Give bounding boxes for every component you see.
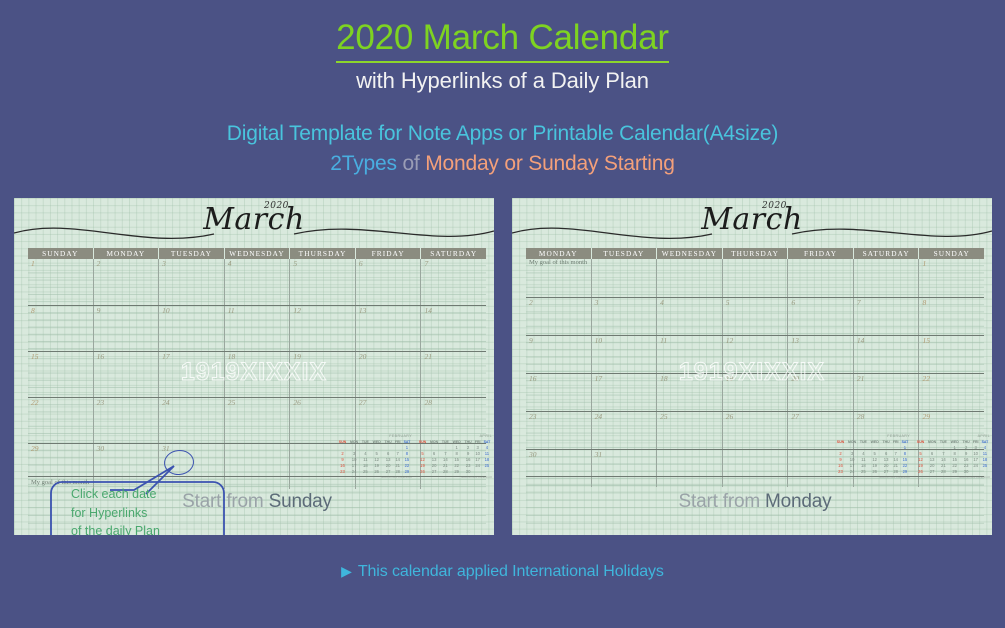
cell-rule-lines — [788, 298, 853, 335]
start-from-day: Sunday — [269, 491, 332, 512]
day-cell-6[interactable]: 6 — [788, 298, 854, 335]
day-cell-1[interactable]: 1 — [28, 259, 94, 305]
day-number: 6 — [359, 260, 363, 268]
triangle-bullet-icon: ▶ — [341, 563, 352, 580]
month-year-label: 2020 — [264, 201, 289, 211]
cell-rule-lines — [657, 259, 722, 297]
day-cell-10[interactable]: 10 — [159, 306, 225, 351]
day-cell-10[interactable]: 10 — [592, 336, 658, 373]
day-number: 25 — [228, 399, 236, 407]
day-number: 8 — [922, 299, 926, 307]
mini-day-24: 24 — [846, 469, 858, 475]
day-number: 26 — [293, 399, 301, 407]
day-cell-23[interactable]: 23 — [526, 412, 592, 449]
mini-day-29: 29 — [451, 469, 463, 475]
day-number: 1 — [31, 260, 35, 268]
day-cell-empty — [854, 259, 920, 297]
mini-day-25: 25 — [360, 469, 370, 475]
cell-rule-lines — [854, 298, 919, 335]
day-number: 29 — [922, 413, 930, 421]
day-number: 24 — [162, 399, 170, 407]
mini-day-29: 29 — [402, 469, 412, 475]
day-number: 20 — [359, 353, 367, 361]
day-number: 15 — [31, 353, 39, 361]
dow-header-sunday: SUNDAY — [28, 248, 94, 259]
day-number: 15 — [922, 337, 930, 345]
calendar-cards: March 2020 SUNDAYMONDAYTUESDAYWEDNESDAYT… — [0, 198, 1005, 535]
calendar-header-monday: March 2020 — [512, 198, 992, 248]
dow-header-thursday: THURSDAY — [290, 248, 356, 259]
day-number: 2 — [97, 260, 101, 268]
week-row: 891011121314 — [28, 305, 486, 351]
day-number: 14 — [424, 307, 432, 315]
dow-header-monday: MONDAY — [94, 248, 160, 259]
day-number: 26 — [726, 413, 734, 421]
day-cell-empty: My goal of this month — [526, 259, 592, 297]
day-number: 31 — [595, 451, 603, 459]
day-number: 16 — [529, 375, 537, 383]
day-cell-1[interactable]: 1 — [919, 259, 984, 297]
week-row: My goal of this month1 — [526, 259, 984, 297]
cell-rule-lines — [788, 259, 853, 297]
cell-rule-lines — [159, 259, 224, 305]
day-cell-21[interactable]: 21 — [421, 352, 486, 397]
day-number: 31 — [162, 445, 170, 453]
cell-rule-lines — [28, 306, 93, 351]
day-number: 16 — [97, 353, 105, 361]
mini-calendars-monday: FEBRUARYSUNMONTUEWEDTHUFRISAT12345678910… — [835, 434, 990, 479]
mini-day-27: 27 — [383, 469, 394, 475]
mini-day-28: 28 — [393, 469, 401, 475]
day-cell-14[interactable]: 14 — [421, 306, 486, 351]
promo-of-label: of — [402, 152, 419, 175]
day-number: 24 — [595, 413, 603, 421]
day-cell-19[interactable]: 19 — [290, 352, 356, 397]
start-from-prefix: Start from — [679, 491, 765, 512]
dow-header-thursday: THURSDAY — [723, 248, 789, 259]
day-cell-3[interactable]: 3 — [159, 259, 225, 305]
day-number: 17 — [162, 353, 170, 361]
day-number: 27 — [359, 399, 367, 407]
day-number: 3 — [162, 260, 166, 268]
mini-day-25: 25 — [858, 469, 868, 475]
day-cell-23[interactable]: 23 — [94, 398, 160, 443]
week-row: 2345678 — [526, 297, 984, 335]
bottom-notes-band-monday[interactable]: Start from Monday — [526, 476, 984, 528]
day-cell-8[interactable]: 8 — [919, 298, 984, 335]
week-row: 16171819202122 — [526, 373, 984, 411]
day-number: 10 — [162, 307, 170, 315]
dow-header-wednesday: WEDNESDAY — [225, 248, 291, 259]
day-number: 5 — [726, 299, 730, 307]
mini-day-empty — [980, 469, 990, 475]
dow-header-sunday: SUNDAY — [919, 248, 984, 259]
day-of-week-header-row: MONDAYTUESDAYWEDNESDAYTHURSDAYFRIDAYSATU… — [526, 248, 984, 259]
day-number: 8 — [31, 307, 35, 315]
mini-day-28: 28 — [891, 469, 899, 475]
cell-rule-lines — [94, 259, 159, 305]
day-cell-4[interactable]: 4 — [225, 259, 291, 305]
start-from-day: Monday — [765, 491, 831, 512]
day-number: 2 — [529, 299, 533, 307]
day-cell-empty — [788, 259, 854, 297]
day-cell-18[interactable]: 18 — [657, 374, 723, 411]
cell-rule-lines — [592, 298, 657, 335]
day-number: 21 — [857, 375, 865, 383]
day-cell-12[interactable]: 12 — [723, 336, 789, 373]
month-year-label: 2020 — [762, 201, 787, 211]
day-cell-17[interactable]: 17 — [159, 352, 225, 397]
mini-day-30: 30 — [463, 469, 474, 475]
day-number: 25 — [660, 413, 668, 421]
day-number: 19 — [726, 375, 734, 383]
cell-rule-lines — [854, 259, 919, 297]
day-number: 5 — [293, 260, 297, 268]
mini-day-24: 24 — [348, 469, 360, 475]
day-number: 4 — [228, 260, 232, 268]
mini-day-27: 27 — [926, 469, 938, 475]
mini-day-26: 26 — [869, 469, 881, 475]
dow-header-tuesday: TUESDAY — [592, 248, 658, 259]
week-row: 15161718192021 — [28, 351, 486, 397]
page-header: 2020 March Calendar with Hyperlinks of a… — [0, 0, 1005, 176]
day-cell-empty — [657, 259, 723, 297]
day-cell-9[interactable]: 9 — [526, 336, 592, 373]
day-number: 4 — [660, 299, 664, 307]
day-number: 1 — [922, 260, 926, 268]
footer-note: ▶This calendar applied International Hol… — [0, 563, 1005, 581]
promo-types-label: 2Types — [330, 152, 397, 175]
cell-rule-lines — [592, 259, 657, 297]
cell-rule-lines — [526, 298, 591, 335]
day-cell-5[interactable]: 5 — [290, 259, 356, 305]
day-cell-2[interactable]: 2 — [94, 259, 160, 305]
mini-day-29: 29 — [900, 469, 910, 475]
week-row: 9101112131415 — [526, 335, 984, 373]
day-cell-13[interactable]: 13 — [788, 336, 854, 373]
day-number: 28 — [857, 413, 865, 421]
day-number: 23 — [97, 399, 105, 407]
day-number: 22 — [922, 375, 930, 383]
mini-calendar-april: APRILSUNMONTUEWEDTHUFRISAT12345678910111… — [417, 434, 492, 479]
cell-rule-lines — [919, 259, 984, 297]
dow-header-monday: MONDAY — [526, 248, 592, 259]
day-cell-25[interactable]: 25 — [657, 412, 723, 449]
page-title: 2020 March Calendar — [336, 18, 669, 63]
day-cell-24[interactable]: 24 — [592, 412, 658, 449]
day-cell-6[interactable]: 6 — [356, 259, 422, 305]
mini-day-26: 26 — [371, 469, 383, 475]
day-cell-21[interactable]: 21 — [854, 374, 920, 411]
mini-day-26: 26 — [915, 469, 926, 475]
dow-header-friday: FRIDAY — [356, 248, 422, 259]
mini-day-empty — [473, 469, 481, 475]
day-number: 14 — [857, 337, 865, 345]
mini-day-26: 26 — [417, 469, 428, 475]
callout-line-1: Click each date — [71, 485, 221, 504]
day-number: 10 — [595, 337, 603, 345]
cell-rule-lines — [421, 259, 486, 305]
day-number: 22 — [31, 399, 39, 407]
day-cell-empty — [723, 259, 789, 297]
day-number: 29 — [31, 445, 39, 453]
month-name-script: March — [512, 205, 992, 235]
cell-rule-lines — [919, 298, 984, 335]
day-cell-20[interactable]: 20 — [788, 374, 854, 411]
promo-days-label: Monday or Sunday Starting — [425, 152, 674, 175]
start-from-caption-monday: Start from Monday — [526, 491, 984, 513]
day-cell-16[interactable]: 16 — [526, 374, 592, 411]
page-subtitle: with Hyperlinks of a Daily Plan — [0, 68, 1005, 94]
day-of-week-header-row: SUNDAYMONDAYTUESDAYWEDNESDAYTHURSDAYFRID… — [28, 248, 486, 259]
cell-rule-lines — [723, 298, 788, 335]
day-number: 27 — [791, 413, 799, 421]
mini-day-27: 27 — [881, 469, 892, 475]
day-number: 12 — [293, 307, 301, 315]
mini-day-23: 23 — [337, 469, 348, 475]
cell-rule-lines — [94, 306, 159, 351]
day-number: 21 — [424, 353, 432, 361]
day-cell-26[interactable]: 26 — [723, 412, 789, 449]
callout-text-block: Click each date for Hyperlinks of the da… — [71, 485, 221, 535]
day-cell-25[interactable]: 25 — [225, 398, 291, 443]
day-cell-17[interactable]: 17 — [592, 374, 658, 411]
day-number: 7 — [424, 260, 428, 268]
mini-day-30: 30 — [961, 469, 972, 475]
cell-rule-lines — [290, 259, 355, 305]
day-cell-14[interactable]: 14 — [854, 336, 920, 373]
cell-rule-lines — [225, 259, 290, 305]
mini-day-23: 23 — [835, 469, 846, 475]
mini-calendar-february: FEBRUARYSUNMONTUEWEDTHUFRISAT12345678910… — [337, 434, 412, 479]
cell-rule-lines — [356, 259, 421, 305]
day-cell-11[interactable]: 11 — [657, 336, 723, 373]
day-number: 12 — [726, 337, 734, 345]
day-cell-22[interactable]: 22 — [28, 398, 94, 443]
day-number: 9 — [97, 307, 101, 315]
day-number: 3 — [595, 299, 599, 307]
day-cell-24[interactable]: 24 — [159, 398, 225, 443]
dow-header-tuesday: TUESDAY — [159, 248, 225, 259]
day-cell-20[interactable]: 20 — [356, 352, 422, 397]
day-number: 20 — [791, 375, 799, 383]
day-number: 11 — [660, 337, 667, 345]
day-number: 28 — [424, 399, 432, 407]
dow-header-saturday: SATURDAY — [421, 248, 486, 259]
promo-line-2: 2Types of Monday or Sunday Starting — [0, 152, 1005, 176]
dow-header-saturday: SATURDAY — [854, 248, 920, 259]
month-name-script: March — [14, 205, 494, 235]
day-cell-11[interactable]: 11 — [225, 306, 291, 351]
day-number: 11 — [228, 307, 235, 315]
day-cell-16[interactable]: 16 — [94, 352, 160, 397]
day-number: 7 — [857, 299, 861, 307]
day-cell-13[interactable]: 13 — [356, 306, 422, 351]
mini-day-empty — [971, 469, 979, 475]
day-cell-12[interactable]: 12 — [290, 306, 356, 351]
day-cell-7[interactable]: 7 — [854, 298, 920, 335]
footer-text: This calendar applied International Holi… — [358, 563, 664, 580]
day-cell-3[interactable]: 3 — [592, 298, 658, 335]
day-cell-19[interactable]: 19 — [723, 374, 789, 411]
day-cell-7[interactable]: 7 — [421, 259, 486, 305]
day-number: 13 — [359, 307, 367, 315]
day-number: 17 — [595, 375, 603, 383]
mini-day-empty — [482, 469, 492, 475]
mini-calendar-february: FEBRUARYSUNMONTUEWEDTHUFRISAT12345678910… — [835, 434, 910, 479]
dow-header-wednesday: WEDNESDAY — [657, 248, 723, 259]
day-number: 30 — [97, 445, 105, 453]
day-number: 9 — [529, 337, 533, 345]
day-cell-22[interactable]: 22 — [919, 374, 984, 411]
day-number: 19 — [293, 353, 301, 361]
day-cell-9[interactable]: 9 — [94, 306, 160, 351]
day-number: 23 — [529, 413, 537, 421]
day-number: 18 — [228, 353, 236, 361]
day-number: 18 — [660, 375, 668, 383]
day-cell-15[interactable]: 15 — [28, 352, 94, 397]
mini-day-28: 28 — [938, 469, 948, 475]
day-number: 6 — [791, 299, 795, 307]
mini-calendars-sunday: FEBRUARYSUNMONTUEWEDTHUFRISAT12345678910… — [337, 434, 492, 479]
day-cell-5[interactable]: 5 — [723, 298, 789, 335]
day-cell-empty — [592, 259, 658, 297]
cell-rule-lines — [526, 336, 591, 373]
cell-rule-lines — [28, 259, 93, 305]
day-number: 13 — [791, 337, 799, 345]
mini-calendar-april: APRILSUNMONTUEWEDTHUFRISAT12345678910111… — [915, 434, 990, 479]
calendar-card-monday-start[interactable]: March 2020 MONDAYTUESDAYWEDNESDAYTHURSDA… — [512, 198, 992, 535]
dow-header-friday: FRIDAY — [788, 248, 854, 259]
cell-rule-lines — [723, 259, 788, 297]
day-cell-18[interactable]: 18 — [225, 352, 291, 397]
day-cell-15[interactable]: 15 — [919, 336, 984, 373]
week-row: 1234567 — [28, 259, 486, 305]
day-cell-2[interactable]: 2 — [526, 298, 592, 335]
day-cell-8[interactable]: 8 — [28, 306, 94, 351]
goal-of-month-note: My goal of this month — [529, 260, 587, 267]
promo-line-1: Digital Template for Note Apps or Printa… — [0, 122, 1005, 146]
callout-line-2: for Hyperlinks — [71, 504, 221, 523]
mini-day-29: 29 — [949, 469, 961, 475]
calendar-card-sunday-start[interactable]: March 2020 SUNDAYMONDAYTUESDAYWEDNESDAYT… — [14, 198, 494, 535]
day-number: 30 — [529, 451, 537, 459]
cell-rule-lines — [657, 298, 722, 335]
mini-day-27: 27 — [428, 469, 440, 475]
day-cell-4[interactable]: 4 — [657, 298, 723, 335]
mini-day-28: 28 — [440, 469, 450, 475]
calendar-header-sunday: March 2020 — [14, 198, 494, 248]
callout-line-3: of the daily Plan — [71, 522, 221, 535]
